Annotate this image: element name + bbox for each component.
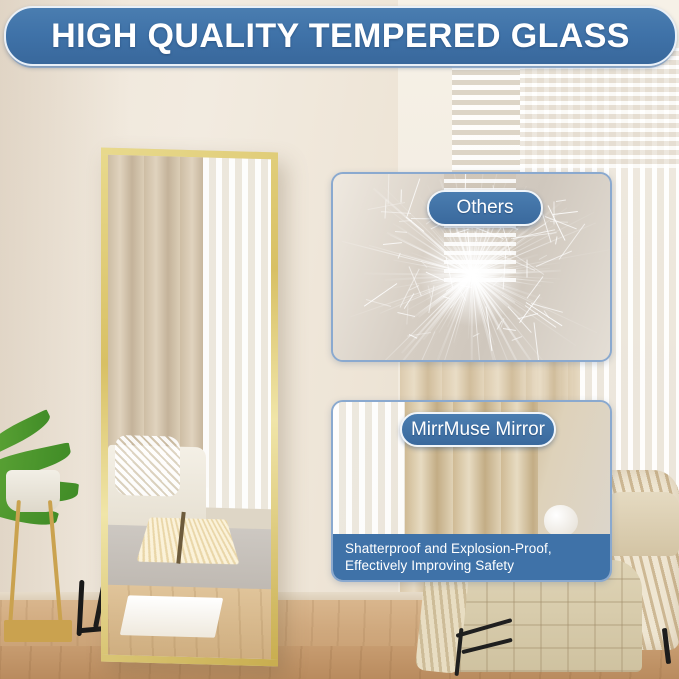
reflected-pillow (115, 435, 180, 497)
reflected-sheer (203, 157, 271, 509)
floor-mirror (101, 148, 278, 667)
decor-ball (544, 505, 578, 537)
side-table (455, 618, 525, 676)
feature-caption-band: Shatterproof and Explosion-Proof, Effect… (333, 534, 610, 580)
reflected-open-book (144, 506, 232, 573)
panel-label-others-text: Others (456, 197, 513, 219)
reflected-card (120, 595, 223, 637)
plant-stand (4, 500, 66, 648)
panel-label-others: Others (427, 190, 543, 226)
product-infographic: HIGH QUALITY TEMPERED GLASS Others MirrM… (0, 0, 679, 679)
header-banner: HIGH QUALITY TEMPERED GLASS (4, 6, 675, 68)
mirror-reflection (108, 155, 271, 660)
comparison-panel-mirrmuse: MirrMuse Mirror Shatterproof and Explosi… (331, 400, 612, 582)
feature-caption-text: Shatterproof and Explosion-Proof, Effect… (345, 540, 610, 575)
panel-label-mirrmuse: MirrMuse Mirror (400, 412, 556, 447)
panel-label-mirrmuse-text: MirrMuse Mirror (411, 419, 545, 441)
banner-pill: HIGH QUALITY TEMPERED GLASS (4, 6, 677, 66)
banner-title: HIGH QUALITY TEMPERED GLASS (51, 17, 630, 56)
comparison-panel-others: Others (331, 172, 612, 362)
